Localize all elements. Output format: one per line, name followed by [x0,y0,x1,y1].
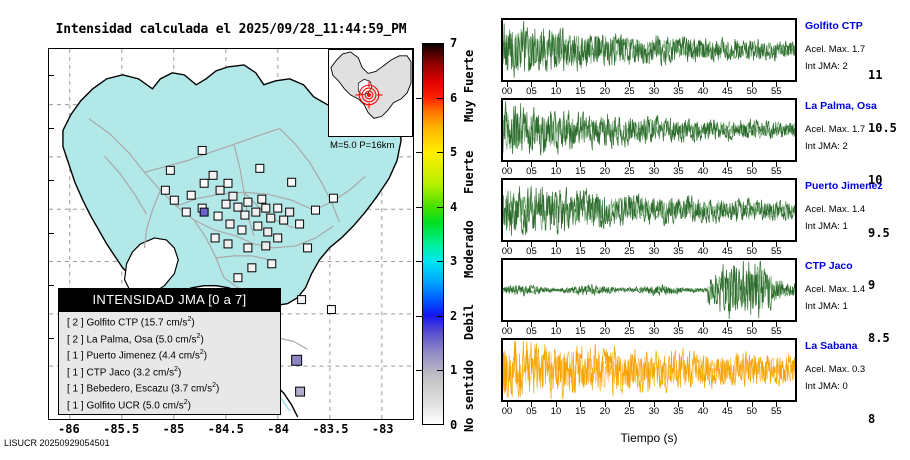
time-tick-label: 55 [771,326,782,337]
time-tick-label: 10 [551,86,562,97]
station-jma-intensity: Int JMA: 2 [805,61,848,72]
time-tick-label: 25 [624,86,635,97]
x-tick-label: -83 [372,422,394,436]
legend-station: Golfito CTP [86,317,138,328]
time-tick-label: 35 [673,166,684,177]
station-max-acceleration: Acel. Max. 1.4 [805,204,865,215]
legend-accel: (3.2 cm/s [133,367,174,378]
seismogram-time-axis: 000510152025303540455055 [501,322,797,336]
seismogram-trace [503,180,795,240]
time-tick-label: 45 [722,86,733,97]
time-tick-label: 00 [502,86,513,97]
colorbar-tick-label: 7 [450,36,457,50]
time-tick-label: 05 [526,246,537,257]
time-tick-label: 55 [771,166,782,177]
time-tick-label: 45 [722,406,733,417]
station-name: Puerto Jimenez [805,180,883,192]
time-tick-label: 35 [673,246,684,257]
time-tick-label: 40 [698,166,709,177]
colorbar-category: Debil [462,278,476,340]
station-name: Golfito CTP [805,20,863,32]
colorbar-tick-label: 2 [450,309,457,323]
time-tick-label: 10 [551,326,562,337]
time-tick-label: 20 [600,406,611,417]
time-tick-label: 50 [747,166,758,177]
time-tick-label: 15 [575,406,586,417]
legend-row: [ 1 ] CTP Jaco (3.2 cm/s2) [59,362,280,379]
time-tick-label: 55 [771,246,782,257]
time-tick-label: 40 [698,406,709,417]
seismogram-time-axis: 000510152025303540455055 [501,162,797,176]
colorbar-category: Moderado [462,190,476,278]
time-tick-label: 00 [502,326,513,337]
time-tick-label: 15 [575,326,586,337]
colorbar-tick-label: 1 [450,363,457,377]
station-jma-intensity: Int JMA: 2 [805,141,848,152]
time-tick-label: 10 [551,246,562,257]
time-tick-label: 35 [673,406,684,417]
time-tick-label: 30 [649,406,660,417]
y-tick-mark [48,285,54,286]
seismogram-panel[interactable] [501,178,797,242]
station-max-acceleration: Acel. Max. 1.7 [805,124,865,135]
x-tick-label: -84 [267,422,289,436]
seismogram-panel[interactable] [501,98,797,162]
seismogram-trace [503,260,795,320]
x-tick-label: -85.5 [103,422,139,436]
colorbar-category: No sentido [462,336,476,432]
time-tick-label: 00 [502,166,513,177]
time-tick-label: 40 [698,246,709,257]
x-tick-label: -84.5 [208,422,244,436]
legend-title: INTENSIDAD JMA [0 a 7] [58,288,281,311]
y-tick-label: 8 [868,412,910,426]
colorbar-category: Fuerte [462,114,476,194]
legend-row: [ 1 ] Puerto Jimenez (4.4 cm/s2) [59,345,280,362]
time-tick-label: 30 [649,86,660,97]
time-tick-label: 00 [502,406,513,417]
y-tick-mark [48,233,54,234]
station-jma-intensity: Int JMA: 0 [805,381,848,392]
time-tick-label: 25 [624,246,635,257]
time-tick-label: 20 [600,326,611,337]
legend-accel: (5.0 cm/s [143,400,184,411]
y-tick-mark [48,180,54,181]
colorbar-tick-label: 6 [450,91,457,105]
footer-credit: LISUCR 20250929054501 [4,438,110,448]
time-tick-label: 25 [624,326,635,337]
time-tick-label: 15 [575,246,586,257]
legend-row: [ 2 ] La Palma, Osa (5.0 cm/s2) [59,329,280,346]
seismogram-time-axis: 000510152025303540455055 [501,402,797,416]
y-tick-label: 11 [868,68,910,82]
legend-row: [ 1 ] Golfito UCR (5.0 cm/s2) [59,395,280,412]
legend-accel: (4.4 cm/s [159,350,200,361]
time-tick-label: 15 [575,166,586,177]
legend-station: La Palma, Osa [86,334,152,345]
seismogram-trace [503,340,795,400]
time-tick-label: 05 [526,86,537,97]
colorbar-tick-label: 3 [450,254,457,268]
legend-count: [ 1 ] [67,383,84,394]
y-tick-mark [48,128,54,129]
colorbar-category: Muy Fuerte [462,30,476,122]
legend-tail: ) [216,383,219,394]
legend-tail: ) [191,317,194,328]
time-tick-label: 10 [551,166,562,177]
station-max-acceleration: Acel. Max. 0.3 [805,364,865,375]
time-tick-label: 40 [698,326,709,337]
time-tick-label: 10 [551,406,562,417]
time-tick-label: 45 [722,166,733,177]
legend-tail: ) [200,334,203,345]
time-tick-label: 20 [600,86,611,97]
seismogram-trace [503,100,795,160]
legend-tail: ) [178,367,181,378]
legend-tail: ) [204,350,207,361]
station-name: La Palma, Osa [805,100,877,112]
time-tick-label: 35 [673,326,684,337]
time-tick-label: 00 [502,246,513,257]
time-axis-label: Tiempo (s) [501,431,797,445]
legend-accel: (3.7 cm/s [171,383,212,394]
inset-geometry [329,50,412,136]
time-tick-label: 45 [722,326,733,337]
event-magnitude-depth: M=5.0 P=16km [330,140,394,151]
x-tick-label: -85 [163,422,185,436]
station-max-acceleration: Acel. Max. 1.4 [805,284,865,295]
time-tick-label: 05 [526,326,537,337]
seismogram-trace [503,20,795,80]
station-jma-intensity: Int JMA: 1 [805,301,848,312]
y-tick-mark [48,338,54,339]
legend-station: Puerto Jimenez [86,350,155,361]
legend-accel: (15.7 cm/s [141,317,188,328]
time-tick-label: 50 [747,406,758,417]
time-tick-label: 50 [747,326,758,337]
station-name: CTP Jaco [805,260,853,272]
y-tick-label: 10.5 [868,121,910,135]
legend-station: Bebedero, Escazu [86,383,168,394]
time-tick-label: 25 [624,406,635,417]
legend-row: [ 1 ] Bebedero, Escazu (3.7 cm/s2) [59,378,280,395]
legend-count: [ 2 ] [67,317,84,328]
time-tick-label: 20 [600,166,611,177]
time-tick-label: 55 [771,86,782,97]
time-tick-label: 05 [526,166,537,177]
legend-station: CTP Jaco [86,367,130,378]
y-tick-label: 9 [868,278,910,292]
time-tick-label: 05 [526,406,537,417]
time-tick-label: 40 [698,86,709,97]
time-tick-label: 25 [624,166,635,177]
colorbar-tick-label: 5 [450,145,457,159]
seismogram-panel[interactable] [501,338,797,402]
legend-tail: ) [188,400,191,411]
time-tick-label: 55 [771,406,782,417]
station-intensity-legend: [ 2 ] Golfito CTP (15.7 cm/s2) [ 2 ] La … [58,311,281,415]
legend-row: [ 2 ] Golfito CTP (15.7 cm/s2) [59,312,280,329]
intensity-colorbar [422,43,444,425]
seismogram-time-axis: 000510152025303540455055 [501,82,797,96]
time-tick-label: 50 [747,246,758,257]
legend-count: [ 1 ] [67,350,84,361]
seismogram-panel[interactable] [501,18,797,82]
time-tick-label: 30 [649,246,660,257]
locator-inset-map[interactable] [328,49,413,137]
colorbar-tick-label: 4 [450,200,457,214]
legend-accel: (5.0 cm/s [155,334,196,345]
x-tick-label: -83.5 [312,422,348,436]
legend-count: [ 2 ] [67,334,84,345]
time-tick-label: 45 [722,246,733,257]
y-tick-mark [48,75,54,76]
legend-station: Golfito UCR [86,400,139,411]
station-max-acceleration: Acel. Max. 1.7 [805,44,865,55]
legend-count: [ 1 ] [67,367,84,378]
time-tick-label: 50 [747,86,758,97]
legend-count: [ 1 ] [67,400,84,411]
colorbar-tick-label: 0 [450,418,457,432]
time-tick-label: 20 [600,246,611,257]
seismogram-time-axis: 000510152025303540455055 [501,242,797,256]
seismogram-panel[interactable] [501,258,797,322]
time-tick-label: 30 [649,326,660,337]
time-tick-label: 15 [575,86,586,97]
x-tick-label: -86 [58,422,80,436]
time-tick-label: 30 [649,166,660,177]
page-title: Intensidad calculada el 2025/09/28_11:44… [48,22,414,37]
y-tick-label: 9.5 [868,226,910,240]
time-tick-label: 35 [673,86,684,97]
station-name: La Sabana [805,340,858,352]
station-jma-intensity: Int JMA: 1 [805,221,848,232]
y-tick-label: 8.5 [868,331,910,345]
